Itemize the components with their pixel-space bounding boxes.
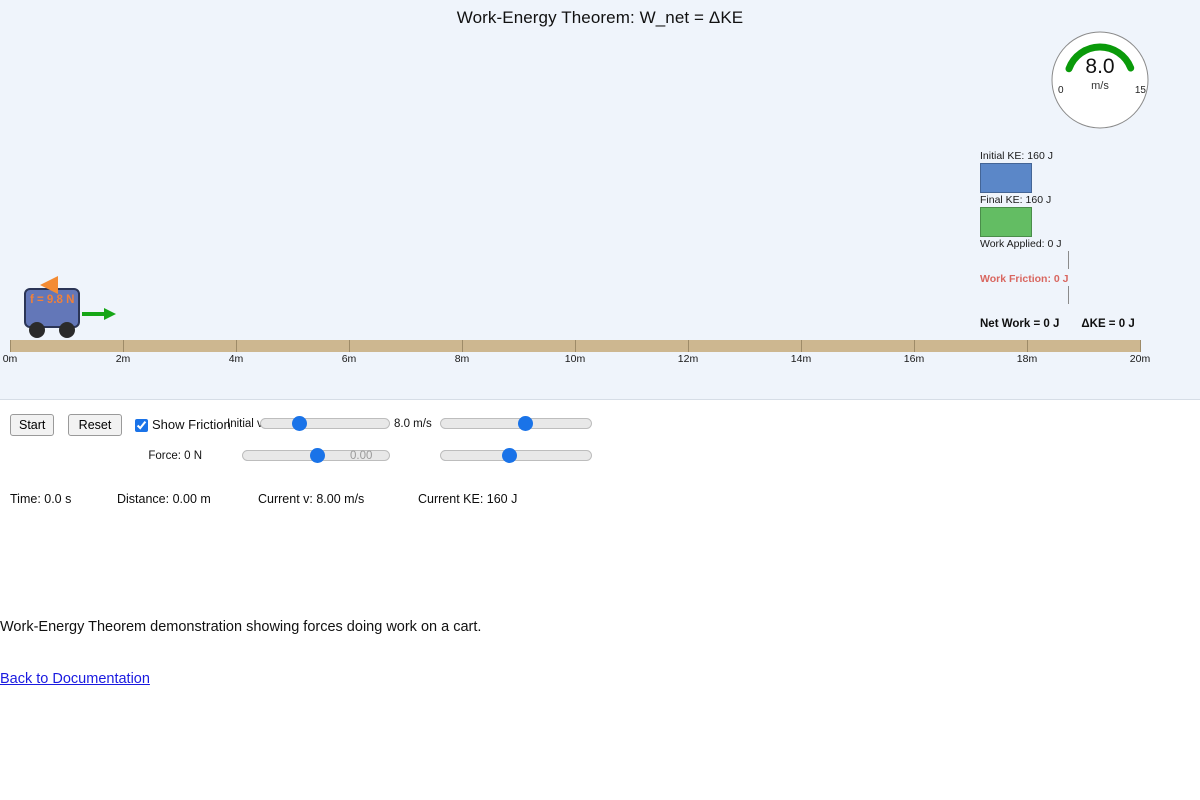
force-slider-value: 0.00 xyxy=(350,450,372,462)
cart[interactable]: f = 9.8 N xyxy=(18,288,88,340)
page-title: Work-Energy Theorem: W_net = ΔKE xyxy=(0,8,1200,28)
work-applied-label: Work Applied: 0 J xyxy=(980,238,1180,250)
initial-velocity-value: 8.0 m/s xyxy=(394,418,432,430)
friction-slider-wrap[interactable] xyxy=(440,448,592,463)
mass-slider-wrap[interactable] xyxy=(440,416,592,431)
ruler-tick-label: 4m xyxy=(229,353,244,365)
speed-gauge-min-label: 0 xyxy=(1058,85,1064,96)
speed-gauge: 8.0 m/s 0 15 xyxy=(1050,30,1150,130)
cart-wheel-left xyxy=(29,322,45,338)
ruler-tick xyxy=(1027,340,1028,352)
initial-velocity-label: Initial v: xyxy=(148,418,266,430)
readout-distance: Distance: 0.00 m xyxy=(117,492,211,506)
final-ke-bar xyxy=(980,207,1032,237)
initial-ke-bar xyxy=(980,163,1032,193)
ruler-tick xyxy=(236,340,237,352)
ruler-tick-label: 18m xyxy=(1017,353,1037,365)
ruler-tick xyxy=(10,340,11,352)
ruler-tick-label: 8m xyxy=(455,353,470,365)
ruler-tick-label: 16m xyxy=(904,353,924,365)
initial-ke-label: Initial KE: 160 J xyxy=(980,150,1180,162)
initial-velocity-slider[interactable] xyxy=(260,416,390,430)
friction-force-label: f = 9.8 N xyxy=(30,294,74,306)
readout-current-v: Current v: 8.00 m/s xyxy=(258,492,364,506)
ruler-tick xyxy=(801,340,802,352)
initial-velocity-slider-wrap[interactable] xyxy=(260,416,390,431)
start-button[interactable]: Start xyxy=(10,414,54,436)
show-friction-checkbox[interactable] xyxy=(135,419,148,432)
simulation-stage: Work-Energy Theorem: W_net = ΔKE 8.0 m/s… xyxy=(0,0,1200,400)
energy-panel: Initial KE: 160 J Final KE: 160 J Work A… xyxy=(980,150,1180,330)
ruler-tick xyxy=(914,340,915,352)
reset-button[interactable]: Reset xyxy=(68,414,122,436)
net-work-label: Net Work = 0 J xyxy=(980,318,1059,330)
ruler: 0m2m4m6m8m10m12m14m16m18m20m xyxy=(0,340,1200,370)
work-applied-bar xyxy=(1068,251,1069,269)
controls-row-2: Force: 0 N 0.00 xyxy=(0,442,1200,474)
net-work-summary: Net Work = 0 JΔKE = 0 J xyxy=(980,318,1180,330)
readout-time: Time: 0.0 s xyxy=(10,492,71,506)
ruler-tick xyxy=(462,340,463,352)
ruler-tick-label: 0m xyxy=(3,353,18,365)
work-friction-label: Work Friction: 0 J xyxy=(980,273,1180,285)
ruler-tick xyxy=(349,340,350,352)
final-ke-label: Final KE: 160 J xyxy=(980,194,1180,206)
delta-ke-label: ΔKE = 0 J xyxy=(1081,318,1134,330)
readouts-row: Time: 0.0 s Distance: 0.00 m Current v: … xyxy=(0,492,1200,510)
force-label: Force: 0 N xyxy=(100,450,202,462)
ruler-tick-label: 10m xyxy=(565,353,585,365)
ruler-tick-label: 20m xyxy=(1130,353,1150,365)
speed-gauge-value: 8.0 xyxy=(1050,55,1150,79)
friction-arrow-icon xyxy=(40,276,58,294)
ruler-tick-label: 14m xyxy=(791,353,811,365)
mass-slider[interactable] xyxy=(440,416,592,430)
controls-panel: Start Reset Show Friction Initial v: 8.0… xyxy=(0,410,1200,474)
controls-row-1: Start Reset Show Friction Initial v: 8.0… xyxy=(0,410,1200,442)
back-to-documentation-link[interactable]: Back to Documentation xyxy=(0,671,150,687)
ruler-tick xyxy=(575,340,576,352)
cart-wheel-right xyxy=(59,322,75,338)
description-text: Work-Energy Theorem demonstration showin… xyxy=(0,619,481,635)
ruler-tick-label: 2m xyxy=(116,353,131,365)
speed-gauge-max-label: 15 xyxy=(1135,85,1146,96)
ruler-tick xyxy=(688,340,689,352)
velocity-arrow-icon xyxy=(82,308,116,320)
work-friction-bar xyxy=(1068,286,1069,304)
ruler-tick xyxy=(1140,340,1141,352)
friction-slider[interactable] xyxy=(440,448,592,462)
readout-current-ke: Current KE: 160 J xyxy=(418,492,517,506)
ruler-tick xyxy=(123,340,124,352)
ruler-tick-label: 12m xyxy=(678,353,698,365)
ruler-tick-label: 6m xyxy=(342,353,357,365)
